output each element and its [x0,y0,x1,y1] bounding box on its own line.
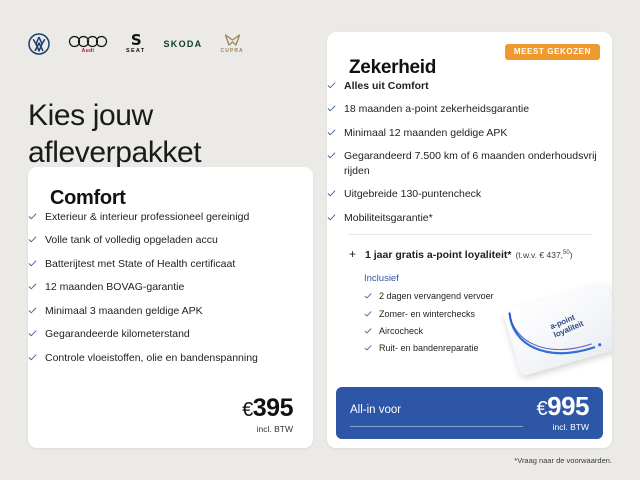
zekerheid-price-note: incl. BTW [536,422,589,432]
loyalty-value-prefix: (t.w.v. € 437, [515,250,563,260]
list-item-label: Minimaal 3 maanden geldige APK [45,304,203,318]
cupra-logo-icon: CUPRA [220,34,243,54]
check-icon [327,104,336,113]
check-icon [327,151,336,160]
list-item-label: Exterieur & interieur professioneel gere… [45,210,249,224]
footnote: *Vraag naar de voorwaarden. [514,456,612,465]
list-item-label: Alles uit Comfort [344,79,429,93]
check-icon [28,282,37,291]
comfort-package-card[interactable]: Comfort Exterieur & interieur profession… [28,167,313,448]
loyalty-highlight-row: + 1 jaar gratis a-point loyaliteit*(t.w.… [348,248,596,261]
list-item-label: Ruit- en bandenreparatie [379,342,479,354]
list-item: Minimaal 3 maanden geldige APK [28,304,313,318]
list-item: 12 maanden BOVAG-garantie [28,280,313,294]
status-badge: MEEST GEKOZEN [505,44,600,60]
list-item: Alles uit Comfort [327,79,612,93]
volkswagen-logo-icon [28,33,50,55]
list-item-label: Mobiliteitsgarantie* [344,211,433,225]
check-icon [28,306,37,315]
cupra-wordmark: CUPRA [220,49,243,54]
list-item: Gegarandeerde kilometerstand [28,327,313,341]
loyalty-value-cents: 50 [563,251,570,257]
comfort-feature-list: Exterieur & interieur professioneel gere… [28,210,313,365]
list-item: Volle tank of volledig opgeladen accu [28,233,313,247]
list-item-label: 12 maanden BOVAG-garantie [45,280,184,294]
list-item-label: Controle vloeistoffen, olie en bandenspa… [45,351,258,365]
check-icon [327,213,336,222]
list-item: Gegarandeerd 7.500 km of 6 maanden onder… [327,149,612,178]
brand-logo-strip: Audi S SEAT SKODA CUPRA [28,31,244,57]
check-icon [327,128,336,137]
zekerheid-price: €995 incl. BTW [536,393,589,432]
check-icon [364,309,372,317]
list-item: 18 maanden a-point zekerheidsgarantie [327,102,612,116]
zekerheid-card-title: Zekerheid [349,57,612,79]
skoda-logo-icon: SKODA [163,40,202,49]
audi-logo-icon: Audi [68,35,108,54]
page-title: Kies jouw afleverpakket [28,98,318,171]
seat-logo-icon: S SEAT [126,33,145,55]
comfort-price: €395 incl. BTW [242,396,293,434]
list-item-label: Zomer- en winterchecks [379,308,475,320]
comfort-card-title: Comfort [50,187,313,210]
page-root: Audi S SEAT SKODA CUPRA Kies jouw afleve… [0,0,640,480]
check-icon [364,343,372,351]
plus-icon: + [348,248,357,260]
zekerheid-package-card[interactable]: MEEST GEKOZEN Zekerheid Alles uit Comfor… [327,32,612,448]
list-item-label: Gegarandeerd 7.500 km of 6 maanden onder… [344,149,612,178]
list-item-label: Batterijtest met State of Health certifi… [45,257,235,271]
list-item: Minimaal 12 maanden geldige APK [327,126,612,140]
footer-rule [350,426,523,427]
list-item: Controle vloeistoffen, olie en bandenspa… [28,351,313,365]
loyalty-label: 1 jaar gratis a-point loyaliteit* [365,249,511,261]
list-item: Batterijtest met State of Health certifi… [28,257,313,271]
seat-mark: S [131,33,141,48]
list-item-label: 2 dagen vervangend vervoer [379,290,494,302]
euro-symbol: € [242,399,253,421]
section-divider [348,234,592,235]
loyalty-value-note: (t.w.v. € 437,50) [515,250,572,260]
check-icon [28,235,37,244]
seat-wordmark: SEAT [126,49,145,55]
list-item: Exterieur & interieur professioneel gere… [28,210,313,224]
check-icon [28,212,37,221]
list-item-label: Uitgebreide 130-puntencheck [344,187,481,201]
list-item-label: Aircocheck [379,325,423,337]
list-item: Mobiliteitsgarantie* [327,211,612,225]
list-item-label: 18 maanden a-point zekerheidsgarantie [344,102,529,116]
comfort-price-value: 395 [253,394,293,422]
list-item-label: Volle tank of volledig opgeladen accu [45,233,218,247]
inclusief-section: Inclusief 2 dagen vervangend vervoer Zom… [327,273,612,354]
check-icon [327,81,336,90]
check-icon [364,291,372,299]
inclusief-title: Inclusief [364,273,594,284]
check-icon [28,329,37,338]
check-icon [327,189,336,198]
check-icon [364,326,372,334]
audi-wordmark: Audi [82,49,95,54]
comfort-price-note: incl. BTW [242,424,293,434]
check-icon [28,259,37,268]
skoda-wordmark: SKODA [163,40,202,49]
zekerheid-price-amount: €995 [536,393,589,419]
euro-symbol: € [536,398,547,420]
allin-label: All-in voor [350,404,401,416]
zekerheid-price-value: 995 [547,391,589,421]
list-item: Uitgebreide 130-puntencheck [327,187,612,201]
comfort-price-amount: €395 [242,396,293,421]
loyalty-value-suffix: ) [570,250,573,260]
list-item-label: Gegarandeerde kilometerstand [45,327,190,341]
zekerheid-feature-list: Alles uit Comfort 18 maanden a-point zek… [327,79,612,225]
zekerheid-price-footer[interactable]: All-in voor €995 incl. BTW [336,387,603,439]
list-item-label: Minimaal 12 maanden geldige APK [344,126,507,140]
check-icon [28,353,37,362]
